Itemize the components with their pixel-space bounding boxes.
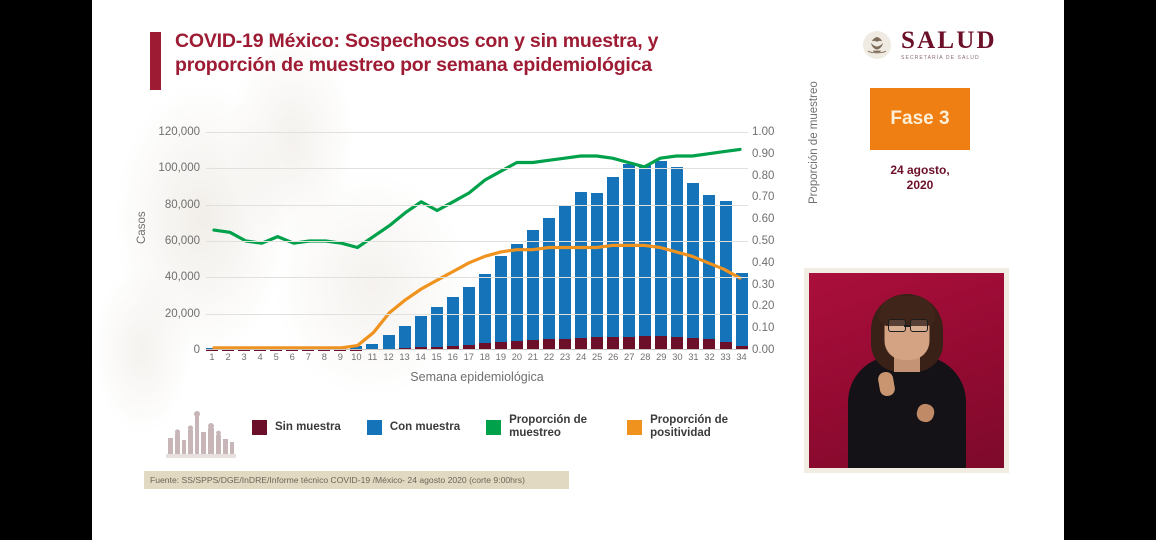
phase-badge: Fase 3 xyxy=(870,88,970,150)
legend-item[interactable]: Con muestra xyxy=(367,420,460,435)
x-axis-baseline xyxy=(206,349,748,350)
y-tick-left: 20,000 xyxy=(165,308,200,320)
source-band: Fuente: SS/SPPS/DGE/InDRE/Informe técnic… xyxy=(144,471,569,489)
y-tick-right: 1.00 xyxy=(752,126,774,138)
x-tick: 26 xyxy=(607,352,619,362)
y-tick-right: 0.50 xyxy=(752,235,774,247)
y-tick-right: 0.20 xyxy=(752,300,774,312)
chart-gridline xyxy=(206,314,748,315)
y-tick-right: 0.30 xyxy=(752,279,774,291)
x-tick: 8 xyxy=(318,352,330,362)
legend-swatch-icon xyxy=(367,420,382,435)
phase-label: Fase 3 xyxy=(890,108,949,130)
chart-gridline xyxy=(206,132,748,133)
chart-gridline xyxy=(206,168,748,169)
legend-item[interactable]: Sin muestra xyxy=(252,420,341,435)
y-tick-left: 120,000 xyxy=(158,126,200,138)
salud-logo-text: SALUD SECRETARÍA DE SALUD xyxy=(901,28,997,61)
chart-gridline xyxy=(206,205,748,206)
y-axis-left: 020,00040,00060,00080,000100,000120,000 xyxy=(144,132,200,350)
chart-legend: Sin muestraCon muestraProporción de mues… xyxy=(252,414,742,440)
x-tick: 32 xyxy=(703,352,715,362)
interpreter-body xyxy=(848,356,966,468)
x-tick: 20 xyxy=(511,352,523,362)
x-tick: 33 xyxy=(720,352,732,362)
interpreter-glasses-right xyxy=(910,319,928,332)
monument-watermark-icon xyxy=(164,408,238,460)
y-tick-left: 80,000 xyxy=(165,199,200,211)
x-axis-ticks: 1234567891011121314151617181920212223242… xyxy=(206,352,748,362)
x-tick: 6 xyxy=(286,352,298,362)
salud-logo: SALUD SECRETARÍA DE SALUD xyxy=(862,28,997,61)
proporcion-muestreo-line xyxy=(214,149,740,247)
screenshot-root: COVID-19 México: Sospechosos con y sin m… xyxy=(0,0,1156,540)
y-tick-left: 0 xyxy=(194,344,200,356)
proporcion-positividad-line xyxy=(214,245,740,347)
x-tick: 34 xyxy=(736,352,748,362)
source-text: Fuente: SS/SPPS/DGE/InDRE/Informe técnic… xyxy=(150,475,525,485)
y-tick-left: 40,000 xyxy=(165,271,200,283)
interpreter-glasses-bridge xyxy=(904,325,910,327)
legend-label: Con muestra xyxy=(390,421,460,434)
x-tick: 30 xyxy=(671,352,683,362)
y-tick-right: 0.10 xyxy=(752,322,774,334)
chart-gridline xyxy=(206,241,748,242)
x-tick: 29 xyxy=(655,352,667,362)
x-tick: 11 xyxy=(366,352,378,362)
x-tick: 19 xyxy=(495,352,507,362)
x-axis-label: Semana epidemiológica xyxy=(206,370,748,384)
x-tick: 15 xyxy=(431,352,443,362)
x-tick: 23 xyxy=(559,352,571,362)
y-tick-right: 0.60 xyxy=(752,213,774,225)
x-tick: 4 xyxy=(254,352,266,362)
y-tick-left: 60,000 xyxy=(165,235,200,247)
x-tick: 24 xyxy=(575,352,587,362)
y-tick-right: 0.90 xyxy=(752,148,774,160)
chart-gridline xyxy=(206,277,748,278)
x-tick: 31 xyxy=(687,352,699,362)
x-tick: 7 xyxy=(302,352,314,362)
legend-label: Proporción de positividad xyxy=(650,414,742,440)
x-tick: 17 xyxy=(463,352,475,362)
y-axis-right: 0.000.100.200.300.400.500.600.700.800.90… xyxy=(752,132,796,350)
x-tick: 3 xyxy=(238,352,250,362)
y-axis-label-right: Proporción de muestreo xyxy=(808,81,820,204)
sign-language-interpreter-video[interactable] xyxy=(804,268,1009,473)
y-tick-right: 0.70 xyxy=(752,191,774,203)
date-label: 24 agosto, 2020 xyxy=(870,163,970,193)
legend-swatch-icon xyxy=(627,420,642,435)
x-tick: 28 xyxy=(639,352,651,362)
title-accent-bar xyxy=(150,32,161,90)
x-tick: 9 xyxy=(334,352,346,362)
legend-swatch-icon xyxy=(486,420,501,435)
presentation-slide: COVID-19 México: Sospechosos con y sin m… xyxy=(92,0,1064,540)
x-tick: 22 xyxy=(543,352,555,362)
x-tick: 10 xyxy=(350,352,362,362)
x-tick: 16 xyxy=(447,352,459,362)
mexico-eagle-emblem-icon xyxy=(862,30,892,60)
y-tick-right: 0.80 xyxy=(752,170,774,182)
legend-item[interactable]: Proporción de positividad xyxy=(627,414,742,440)
date-line-1: 24 agosto, xyxy=(870,163,970,178)
salud-subtitle: SECRETARÍA DE SALUD xyxy=(901,55,997,61)
x-tick: 21 xyxy=(527,352,539,362)
x-tick: 27 xyxy=(623,352,635,362)
video-frame xyxy=(809,273,1004,468)
x-tick: 1 xyxy=(206,352,218,362)
x-tick: 12 xyxy=(383,352,395,362)
y-tick-right: 0.40 xyxy=(752,257,774,269)
y-tick-left: 100,000 xyxy=(158,162,200,174)
page-title: COVID-19 México: Sospechosos con y sin m… xyxy=(175,30,750,78)
legend-swatch-icon xyxy=(252,420,267,435)
x-tick: 13 xyxy=(399,352,411,362)
y-tick-right: 0.00 xyxy=(752,344,774,356)
x-tick: 25 xyxy=(591,352,603,362)
legend-label: Proporción de muestreo xyxy=(509,414,601,440)
date-line-2: 2020 xyxy=(870,178,970,193)
covid-sampling-chart: Casos Proporción de muestreo 020,00040,0… xyxy=(144,132,784,400)
x-tick: 2 xyxy=(222,352,234,362)
x-tick: 14 xyxy=(415,352,427,362)
slide-title-block: COVID-19 México: Sospechosos con y sin m… xyxy=(150,30,750,90)
salud-wordmark: SALUD xyxy=(901,28,997,53)
legend-label: Sin muestra xyxy=(275,421,341,434)
legend-item[interactable]: Proporción de muestreo xyxy=(486,414,601,440)
x-tick: 5 xyxy=(270,352,282,362)
x-tick: 18 xyxy=(479,352,491,362)
chart-plot-area xyxy=(206,132,748,350)
